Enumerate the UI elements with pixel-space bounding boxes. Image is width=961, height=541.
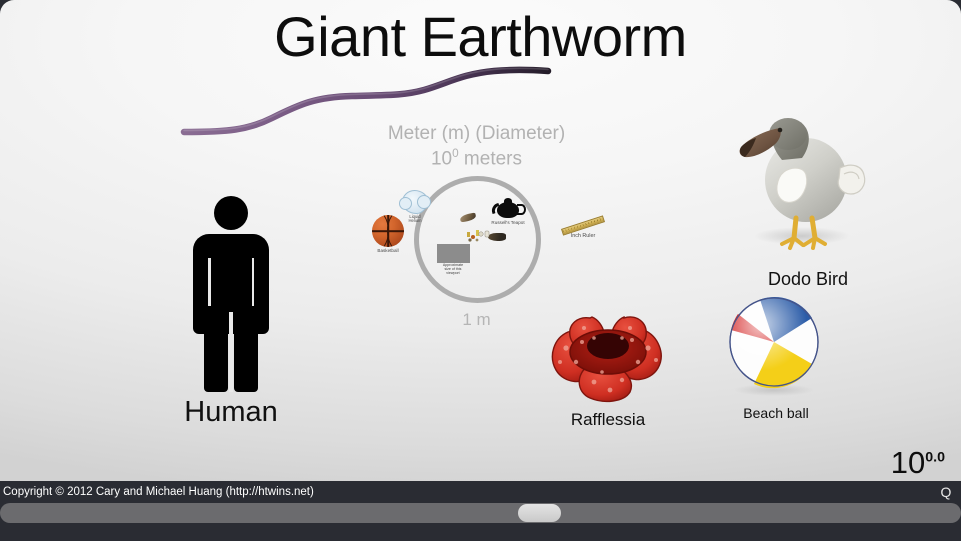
zoom-slider-track[interactable]	[0, 503, 961, 523]
copyright-bar: Copyright © 2012 Cary and Michael Huang …	[0, 481, 961, 503]
object-tiny-bird[interactable]	[460, 214, 482, 221]
teapot-label: Russell's Teapot	[481, 221, 535, 226]
object-russells-teapot[interactable]: Russell's Teapot	[481, 198, 535, 226]
rafflessia-flower-icon	[532, 312, 684, 404]
power-readout-base: 10	[891, 445, 925, 480]
liquid-helium-cloud-icon	[402, 190, 428, 214]
quality-badge[interactable]: Q	[937, 481, 955, 503]
object-inch-ruler[interactable]: Inch Ruler	[556, 222, 610, 240]
power-readout: 100.0	[891, 447, 945, 478]
zoom-stage[interactable]: Giant Earthworm Meter (m) (Diameter)	[0, 0, 961, 484]
object-viewport-box[interactable]: Approximate size of this viewport	[433, 244, 473, 275]
object-dodo-bird[interactable]: Dodo Bird	[722, 112, 894, 290]
power-suffix: meters	[459, 148, 522, 169]
object-liquid-helium[interactable]: Liquid Helium	[397, 190, 433, 224]
page-title: Giant Earthworm	[0, 8, 961, 67]
beach-ball-icon	[716, 292, 836, 398]
object-micro-cluster[interactable]	[466, 228, 492, 244]
power-readout-exponent: 0.0	[925, 450, 945, 466]
micro-cluster-icon	[466, 228, 492, 244]
dodo-bird-label: Dodo Bird	[722, 269, 894, 290]
object-human[interactable]: Human	[148, 196, 314, 429]
bottom-chrome-fill	[0, 523, 961, 541]
rafflessia-label: Rafflessia	[532, 410, 684, 430]
beach-ball-label: Beach ball	[716, 405, 836, 421]
object-rafflessia[interactable]: Rafflessia	[532, 312, 684, 430]
scale-of-universe-app: Giant Earthworm Meter (m) (Diameter)	[0, 0, 961, 541]
viewport-box-icon	[437, 244, 470, 263]
dodo-bird-icon	[722, 112, 894, 262]
power-base: 10	[431, 148, 452, 169]
human-label: Human	[148, 396, 314, 429]
viewport-label: Approximate size of this viewport	[433, 264, 473, 275]
liquid-helium-label: Liquid Helium	[397, 215, 433, 224]
zoom-slider-thumb[interactable]	[518, 504, 561, 522]
object-beach-ball[interactable]: Beach ball	[716, 292, 836, 421]
teapot-icon	[491, 198, 525, 220]
basketball-label: Basketball	[368, 249, 408, 254]
human-pictogram-icon	[190, 196, 272, 392]
